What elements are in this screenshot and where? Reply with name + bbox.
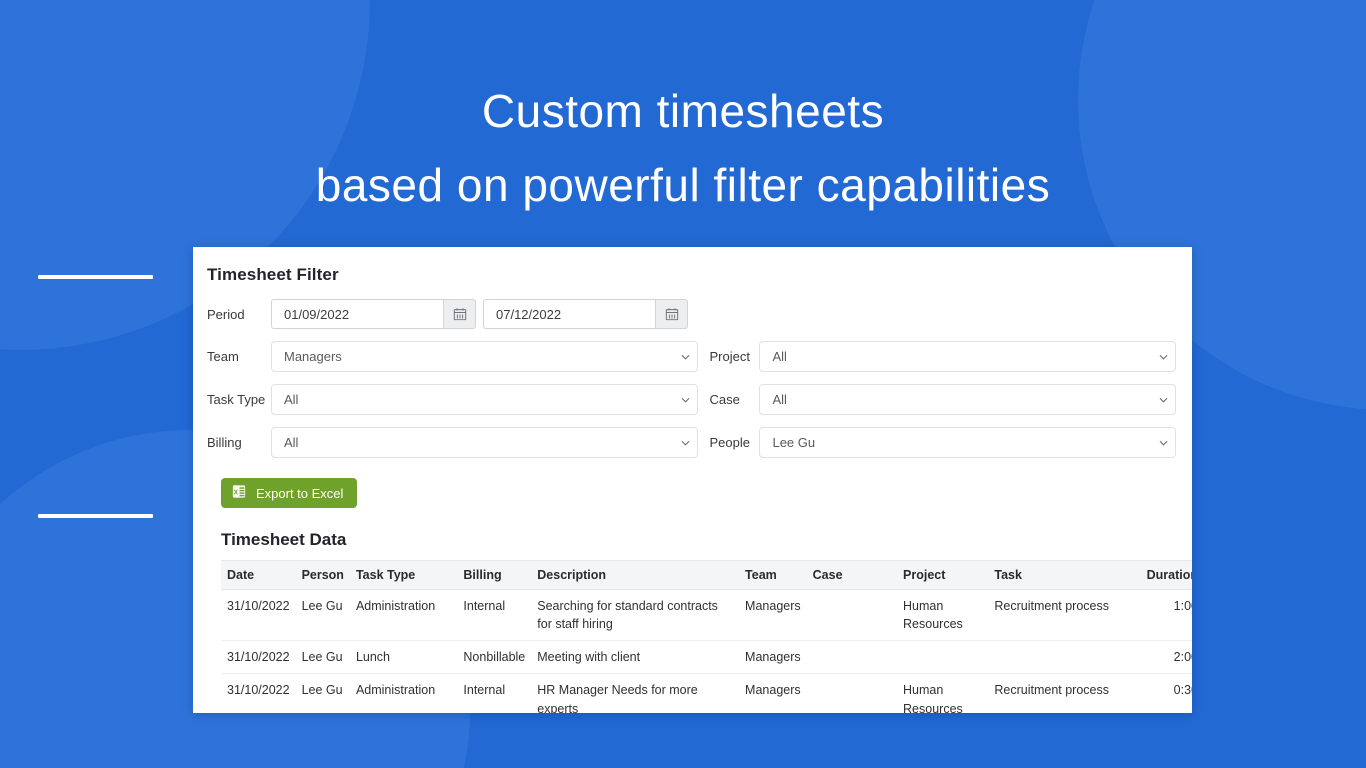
- project-label: Project: [698, 349, 759, 364]
- column-header-task-type[interactable]: Task Type: [350, 561, 457, 590]
- cell-person: Lee Gu: [296, 674, 350, 713]
- cell-project: Human Resources: [897, 590, 988, 641]
- column-header-case[interactable]: Case: [807, 561, 897, 590]
- filter-field-task-type: Task Type All: [207, 384, 698, 415]
- timesheet-table: Date Person Task Type Billing Descriptio…: [221, 560, 1192, 713]
- decorative-dash-top: [38, 275, 153, 279]
- cell-duration: 1:00: [1136, 590, 1192, 641]
- filter-panel-title: Timesheet Filter: [207, 265, 1176, 285]
- task-type-select[interactable]: All: [271, 384, 698, 415]
- cell-billing: Internal: [457, 674, 531, 713]
- cell-task: Recruitment process: [988, 674, 1136, 713]
- column-header-task[interactable]: Task: [988, 561, 1136, 590]
- column-header-description[interactable]: Description: [531, 561, 739, 590]
- filter-field-billing: Billing All: [207, 427, 698, 458]
- filter-row-tasktype-case: Task Type All Case All: [207, 384, 1176, 415]
- people-label: People: [698, 435, 759, 450]
- decorative-dash-bottom: [38, 514, 153, 518]
- cell-task: [988, 641, 1136, 674]
- table-body: 31/10/2022 Lee Gu Administration Interna…: [221, 590, 1192, 714]
- svg-text:X: X: [234, 489, 239, 496]
- period-from-input[interactable]: 01/09/2022: [271, 299, 443, 329]
- timesheet-data-section: Timesheet Data Date Person Task Type Bil…: [207, 530, 1176, 713]
- period-to-input[interactable]: 07/12/2022: [483, 299, 655, 329]
- period-date-range: 01/09/2022: [271, 299, 688, 329]
- calendar-icon[interactable]: [443, 299, 476, 329]
- cell-description: HR Manager Needs for more experts: [531, 674, 739, 713]
- filter-row-billing-people: Billing All People Lee Gu: [207, 427, 1176, 458]
- cell-project: Human Resources: [897, 674, 988, 713]
- calendar-icon[interactable]: [655, 299, 688, 329]
- cell-description: Searching for standard contracts for sta…: [531, 590, 739, 641]
- cell-date: 31/10/2022: [221, 674, 296, 713]
- column-header-date[interactable]: Date: [221, 561, 296, 590]
- column-header-billing[interactable]: Billing: [457, 561, 531, 590]
- project-select[interactable]: All: [759, 341, 1176, 372]
- table-row[interactable]: 31/10/2022 Lee Gu Administration Interna…: [221, 590, 1192, 641]
- billing-select[interactable]: All: [271, 427, 698, 458]
- cell-description: Meeting with client: [531, 641, 739, 674]
- filter-row-period: Period 01/09/2022: [207, 299, 1176, 329]
- page-title-line-2: based on powerful filter capabilities: [0, 148, 1366, 222]
- slide-canvas: Custom timesheets based on powerful filt…: [0, 0, 1366, 768]
- cell-project: [897, 641, 988, 674]
- cell-duration: 2:00: [1136, 641, 1192, 674]
- period-label: Period: [207, 307, 271, 322]
- excel-file-icon: X: [232, 484, 247, 502]
- table-row[interactable]: 31/10/2022 Lee Gu Lunch Nonbillable Meet…: [221, 641, 1192, 674]
- cell-team: Managers: [739, 590, 807, 641]
- table-header: Date Person Task Type Billing Descriptio…: [221, 561, 1192, 590]
- column-header-project[interactable]: Project: [897, 561, 988, 590]
- filter-row-team-project: Team Managers Project All: [207, 341, 1176, 372]
- case-select[interactable]: All: [759, 384, 1176, 415]
- task-type-label: Task Type: [207, 392, 271, 407]
- cell-date: 31/10/2022: [221, 590, 296, 641]
- filter-field-team: Team Managers: [207, 341, 698, 372]
- period-field-group: Period 01/09/2022: [207, 299, 698, 329]
- column-header-team[interactable]: Team: [739, 561, 807, 590]
- team-select[interactable]: Managers: [271, 341, 698, 372]
- people-select[interactable]: Lee Gu: [759, 427, 1176, 458]
- team-label: Team: [207, 349, 271, 364]
- cell-task-type: Administration: [350, 590, 457, 641]
- billing-label: Billing: [207, 435, 271, 450]
- table-header-row: Date Person Task Type Billing Descriptio…: [221, 561, 1192, 590]
- filter-field-people: People Lee Gu: [698, 427, 1176, 458]
- export-button-label: Export to Excel: [256, 486, 343, 501]
- export-row: X Export to Excel: [221, 478, 1176, 508]
- cell-team: Managers: [739, 641, 807, 674]
- cell-task-type: Administration: [350, 674, 457, 713]
- filter-form: Period 01/09/2022: [207, 299, 1176, 458]
- cell-team: Managers: [739, 674, 807, 713]
- cell-billing: Internal: [457, 590, 531, 641]
- timesheet-app-card: Timesheet Filter Period 01/09/2022: [193, 247, 1192, 713]
- cell-task-type: Lunch: [350, 641, 457, 674]
- column-header-person[interactable]: Person: [296, 561, 350, 590]
- export-to-excel-button[interactable]: X Export to Excel: [221, 478, 357, 508]
- page-title: Custom timesheets based on powerful filt…: [0, 74, 1366, 222]
- period-separator: [476, 299, 483, 329]
- cell-duration: 0:30: [1136, 674, 1192, 713]
- data-panel-title: Timesheet Data: [221, 530, 1176, 550]
- column-header-duration[interactable]: Duration: [1136, 561, 1192, 590]
- cell-task: Recruitment process: [988, 590, 1136, 641]
- filter-field-project: Project All: [698, 341, 1176, 372]
- cell-case: [807, 590, 897, 641]
- cell-person: Lee Gu: [296, 590, 350, 641]
- cell-date: 31/10/2022: [221, 641, 296, 674]
- filter-field-case: Case All: [698, 384, 1176, 415]
- table-row[interactable]: 31/10/2022 Lee Gu Administration Interna…: [221, 674, 1192, 713]
- cell-case: [807, 641, 897, 674]
- cell-billing: Nonbillable: [457, 641, 531, 674]
- case-label: Case: [698, 392, 759, 407]
- cell-case: [807, 674, 897, 713]
- cell-person: Lee Gu: [296, 641, 350, 674]
- page-title-line-1: Custom timesheets: [0, 74, 1366, 148]
